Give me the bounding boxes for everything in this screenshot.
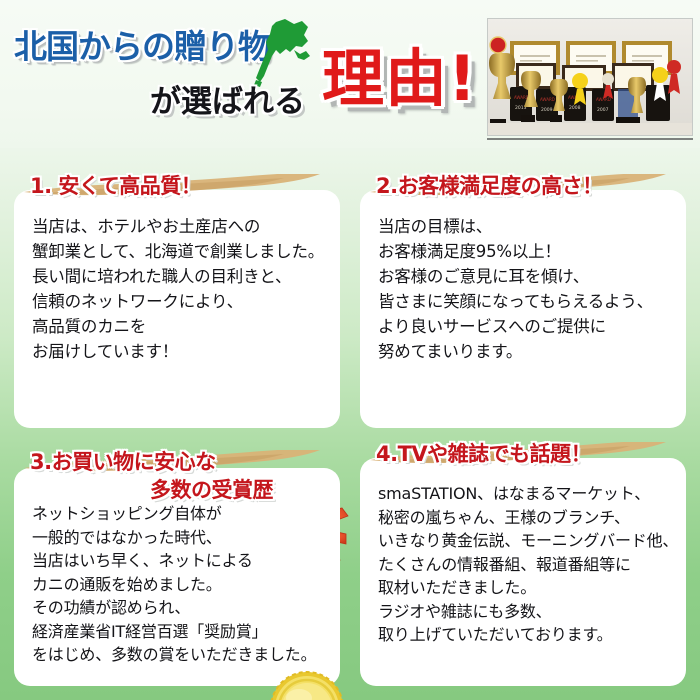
svg-text:2007: 2007 (597, 107, 609, 113)
reason-card-1-heading: 1. 安くて高品質！ (30, 170, 201, 200)
reasons-grid: 1. 安くて高品質！ 当店は、ホテルやお土産店への 蟹卸業として、北海道で創業し… (0, 152, 700, 700)
svg-text:AWARD: AWARD (540, 97, 555, 102)
svg-text:2009: 2009 (541, 107, 553, 113)
brand-logo: 北国からの贈り物 (14, 16, 314, 82)
reason-card-3-heading-line1: 3.お買い物に安心な (30, 446, 216, 476)
gold-medal-award-icon (268, 670, 346, 700)
reason-card-2-body: 当店の目標は、 お客様満足度95%以上！ お客様のご意見に耳を傾け、 皆さまに笑… (378, 214, 682, 364)
svg-text:2008: 2008 (569, 105, 581, 111)
tagline-text: が選ばれる (150, 76, 305, 121)
reason-card-3-heading-line2: 多数の受賞歴 (150, 474, 273, 504)
reason-card-3-body: ネットショッピング自体が 一般的ではなかった時代、 当店はいち早く、ネットによる… (32, 502, 338, 667)
reason-card-2-heading: 2.お客様満足度の高さ！ (376, 170, 603, 200)
banner-header: 北国からの贈り物 が選ばれる 理由! (0, 0, 700, 148)
reason-card-1-body: 当店は、ホテルやお土産店への 蟹卸業として、北海道で創業しました。 長い間に培わ… (32, 214, 332, 364)
reason-headline: 理由! (322, 48, 477, 110)
awards-photo: AWARD AWARD AWARD AWARD 2013 2009 2008 2… (487, 18, 693, 136)
brand-logo-text: 北国からの贈り物 (14, 20, 270, 68)
header-divider (487, 138, 693, 140)
reason-card-4-body: smaSTATION、はなまるマーケット、 秘密の嵐ちゃん、王様のブランチ、 い… (378, 482, 688, 647)
promotional-banner: 北国からの贈り物 が選ばれる 理由! (0, 0, 700, 700)
reason-card-4-heading: 4.TVや雑誌でも話題！ (376, 438, 591, 468)
